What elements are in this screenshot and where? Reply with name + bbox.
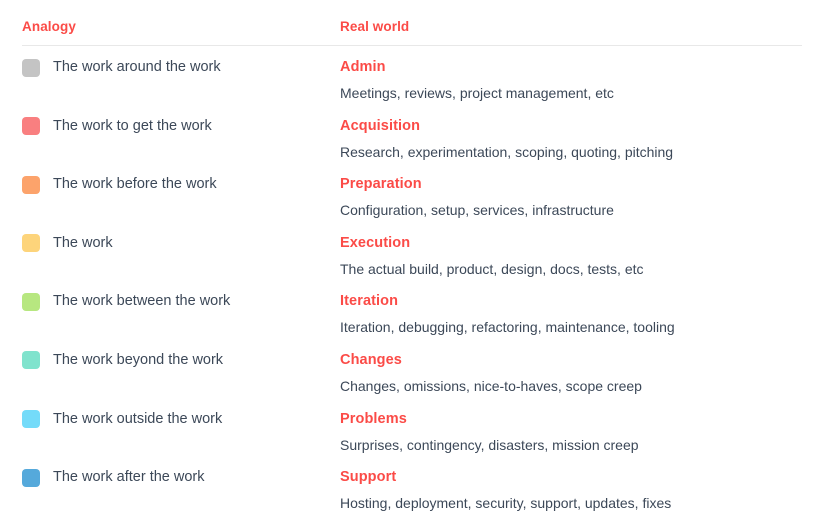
table-row: The work to get the workAcquisitionResea… [22, 105, 802, 164]
real-world-title: Admin [340, 58, 802, 77]
table-row: The work around the workAdminMeetings, r… [22, 46, 802, 105]
cyan-swatch [22, 410, 40, 428]
column-header-analogy: Analogy [22, 18, 340, 36]
real-world-cell: SupportHosting, deployment, security, su… [340, 468, 802, 513]
real-world-cell: IterationIteration, debugging, refactori… [340, 292, 802, 337]
table-row: The workExecutionThe actual build, produ… [22, 222, 802, 281]
real-world-title: Support [340, 468, 802, 487]
mint-swatch [22, 351, 40, 369]
table-row: The work between the workIterationIterat… [22, 280, 802, 339]
real-world-description: Surprises, contingency, disasters, missi… [340, 436, 802, 455]
table-row: The work outside the workProblemsSurpris… [22, 398, 802, 457]
real-world-description: Hosting, deployment, security, support, … [340, 494, 802, 513]
analogy-real-world-table: Analogy Real world The work around the w… [0, 0, 824, 515]
real-world-cell: AdminMeetings, reviews, project manageme… [340, 58, 802, 103]
real-world-cell: PreparationConfiguration, setup, service… [340, 175, 802, 220]
table-header-row: Analogy Real world [0, 18, 824, 45]
analogy-label: The work outside the work [53, 410, 222, 429]
analogy-label: The work beyond the work [53, 351, 223, 370]
table-row: The work after the workSupportHosting, d… [22, 456, 802, 515]
blue-swatch [22, 469, 40, 487]
orange-swatch [22, 176, 40, 194]
analogy-label: The work around the work [53, 58, 221, 77]
real-world-description: Iteration, debugging, refactoring, maint… [340, 318, 802, 337]
analogy-cell: The work around the work [22, 58, 340, 77]
real-world-title: Problems [340, 410, 802, 429]
analogy-label: The work after the work [53, 468, 205, 487]
real-world-title: Iteration [340, 292, 802, 311]
real-world-cell: AcquisitionResearch, experimentation, sc… [340, 117, 802, 162]
analogy-cell: The work outside the work [22, 410, 340, 429]
analogy-cell: The work [22, 234, 340, 253]
real-world-title: Changes [340, 351, 802, 370]
real-world-description: The actual build, product, design, docs,… [340, 260, 802, 279]
real-world-title: Execution [340, 234, 802, 253]
real-world-cell: ProblemsSurprises, contingency, disaster… [340, 410, 802, 455]
analogy-label: The work [53, 234, 113, 253]
green-swatch [22, 293, 40, 311]
real-world-description: Research, experimentation, scoping, quot… [340, 143, 802, 162]
table-row: The work before the workPreparationConfi… [22, 163, 802, 222]
real-world-description: Changes, omissions, nice-to-haves, scope… [340, 377, 802, 396]
real-world-title: Preparation [340, 175, 802, 194]
real-world-description: Meetings, reviews, project management, e… [340, 84, 802, 103]
analogy-cell: The work to get the work [22, 117, 340, 136]
yellow-swatch [22, 234, 40, 252]
column-header-real-world: Real world [340, 18, 802, 36]
grey-swatch [22, 59, 40, 77]
analogy-cell: The work beyond the work [22, 351, 340, 370]
real-world-title: Acquisition [340, 117, 802, 136]
real-world-cell: ChangesChanges, omissions, nice-to-haves… [340, 351, 802, 396]
table-body: The work around the workAdminMeetings, r… [0, 46, 824, 515]
real-world-description: Configuration, setup, services, infrastr… [340, 201, 802, 220]
analogy-label: The work before the work [53, 175, 217, 194]
red-swatch [22, 117, 40, 135]
analogy-cell: The work before the work [22, 175, 340, 194]
real-world-cell: ExecutionThe actual build, product, desi… [340, 234, 802, 279]
table-row: The work beyond the workChangesChanges, … [22, 339, 802, 398]
analogy-label: The work to get the work [53, 117, 212, 136]
analogy-cell: The work after the work [22, 468, 340, 487]
analogy-label: The work between the work [53, 292, 230, 311]
analogy-cell: The work between the work [22, 292, 340, 311]
